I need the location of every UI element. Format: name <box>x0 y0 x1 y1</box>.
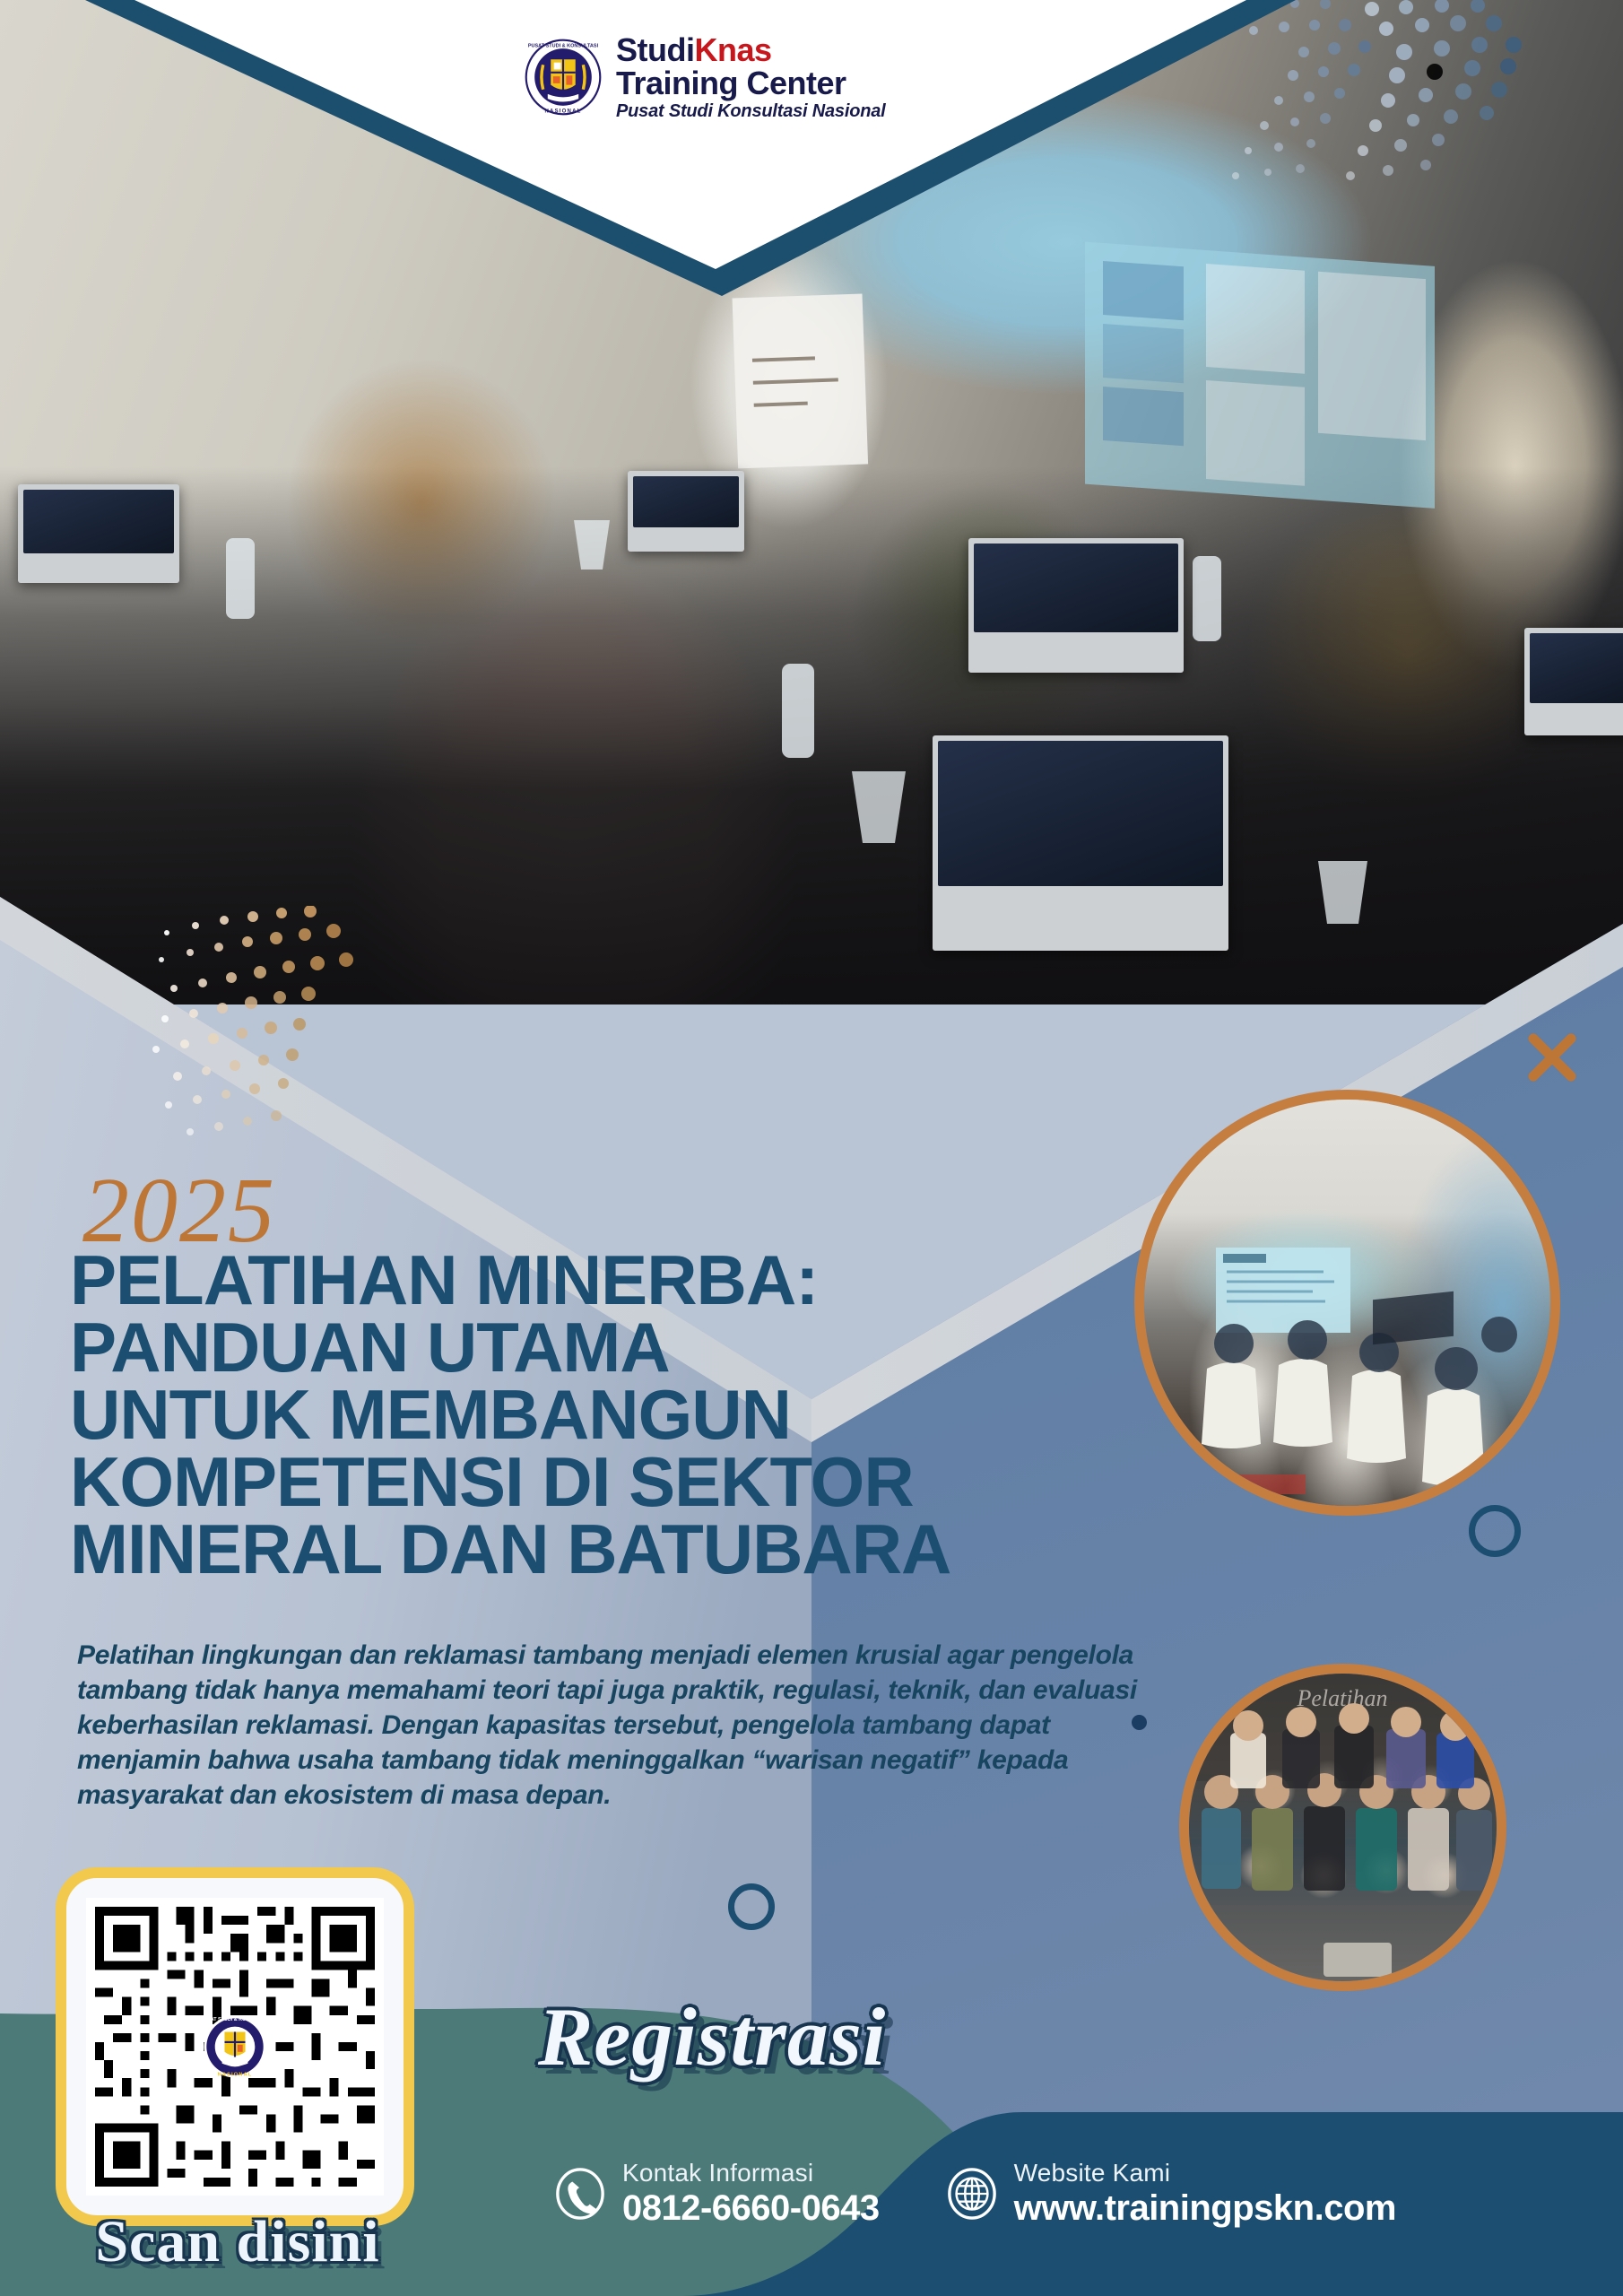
contact-phone-label: Kontak Informasi <box>622 2160 880 2187</box>
classroom-audience-photo <box>1134 1090 1560 1516</box>
svg-text:PUSAT STUDI & KONSULTASI: PUSAT STUDI & KONSULTASI <box>203 2017 267 2022</box>
small-dot-icon <box>1132 1715 1147 1730</box>
halftone-dots-copper <box>152 906 448 1157</box>
svg-text:Pelatihan: Pelatihan <box>1296 1685 1387 1711</box>
outline-circle-icon <box>728 1883 775 1930</box>
qr-center-logo-icon: PUSAT STUDI & KONSULTASI NASIONAL <box>203 2014 267 2079</box>
qr-code-card[interactable]: PUSAT STUDI & KONSULTASI NASIONAL <box>56 1867 414 2226</box>
svg-text:NASIONAL: NASIONAL <box>544 109 581 115</box>
qr-code[interactable]: PUSAT STUDI & KONSULTASI NASIONAL <box>86 1898 384 2196</box>
qr-caption: Scan disini <box>45 2208 430 2276</box>
globe-icon <box>946 2168 998 2220</box>
phone-icon <box>554 2168 606 2220</box>
contact-bar: Kontak Informasi 0812-6660-0643 Website … <box>554 2160 1396 2229</box>
studiknas-crest-icon: PUSAT STUDI & KONSULTASI NASIONAL <box>525 39 602 116</box>
svg-text:PUSAT STUDI & KONSULTASI: PUSAT STUDI & KONSULTASI <box>528 43 599 48</box>
title-line: MINERAL DAN BATUBARA <box>70 1516 1164 1583</box>
title-line: KOMPETENSI DI SEKTOR <box>70 1448 1164 1516</box>
title-line: PANDUAN UTAMA <box>70 1314 1164 1381</box>
group-participants-photo: Pelatihan <box>1179 1664 1506 1991</box>
registration-heading: Registrasi <box>538 1989 886 2084</box>
brand-tagline: Pusat Studi Konsultasi Nasional <box>616 102 886 120</box>
title-line: PELATIHAN MINERBA: <box>70 1247 1164 1314</box>
contact-website[interactable]: Website Kami www.trainingpskn.com <box>946 2160 1396 2229</box>
contact-website-value: www.trainingpskn.com <box>1014 2187 1396 2229</box>
brand-subtitle: Training Center <box>616 67 886 100</box>
poster: PUSAT STUDI & KONSULTASI NASIONAL StudiK… <box>0 0 1623 2296</box>
title-line: UNTUK MEMBANGUN <box>70 1381 1164 1448</box>
brand-name-part2: Knas <box>694 31 771 68</box>
event-description: Pelatihan lingkungan dan reklamasi tamba… <box>77 1638 1153 1813</box>
contact-phone-value: 0812-6660-0643 <box>622 2187 880 2229</box>
brand-name: StudiKnas <box>616 34 886 66</box>
contact-website-label: Website Kami <box>1014 2160 1396 2187</box>
brand-name-part1: Studi <box>616 31 694 68</box>
page-title: PELATIHAN MINERBA: PANDUAN UTAMA UNTUK M… <box>70 1247 1164 1582</box>
brand-logo-lockup: PUSAT STUDI & KONSULTASI NASIONAL StudiK… <box>525 34 886 120</box>
x-mark-icon <box>1524 1030 1580 1085</box>
contact-phone[interactable]: Kontak Informasi 0812-6660-0643 <box>554 2160 880 2229</box>
svg-text:NASIONAL: NASIONAL <box>218 2072 253 2077</box>
outline-circle-icon <box>1469 1505 1521 1557</box>
